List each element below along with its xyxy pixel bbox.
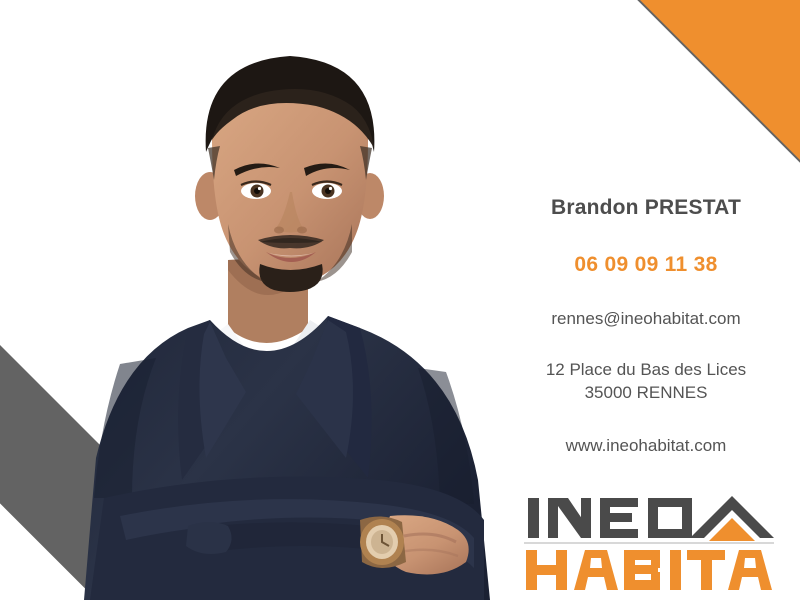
company-logo[interactable] bbox=[524, 492, 774, 594]
portrait-photo bbox=[60, 28, 510, 600]
logo-divider bbox=[524, 542, 774, 544]
contact-name: Brandon PRESTAT bbox=[500, 196, 792, 219]
roof-chevron-icon bbox=[690, 496, 774, 541]
contact-website[interactable]: www.ineohabitat.com bbox=[500, 437, 792, 456]
logo-ineo-text bbox=[528, 498, 692, 538]
contact-details: Brandon PRESTAT 06 09 09 11 38 rennes@in… bbox=[500, 196, 792, 455]
address-line-1: 12 Place du Bas des Lices bbox=[500, 359, 792, 382]
contact-phone[interactable]: 06 09 09 11 38 bbox=[500, 253, 792, 276]
orange-corner-triangle bbox=[640, 0, 800, 160]
logo-habitat-text bbox=[526, 550, 772, 590]
contact-email[interactable]: rennes@ineohabitat.com bbox=[500, 310, 792, 329]
business-card: Brandon PRESTAT 06 09 09 11 38 rennes@in… bbox=[0, 0, 800, 600]
gray-diagonal-stripe-right bbox=[484, 0, 800, 214]
contact-address: 12 Place du Bas des Lices 35000 RENNES bbox=[500, 359, 792, 405]
address-line-2: 35000 RENNES bbox=[500, 382, 792, 405]
